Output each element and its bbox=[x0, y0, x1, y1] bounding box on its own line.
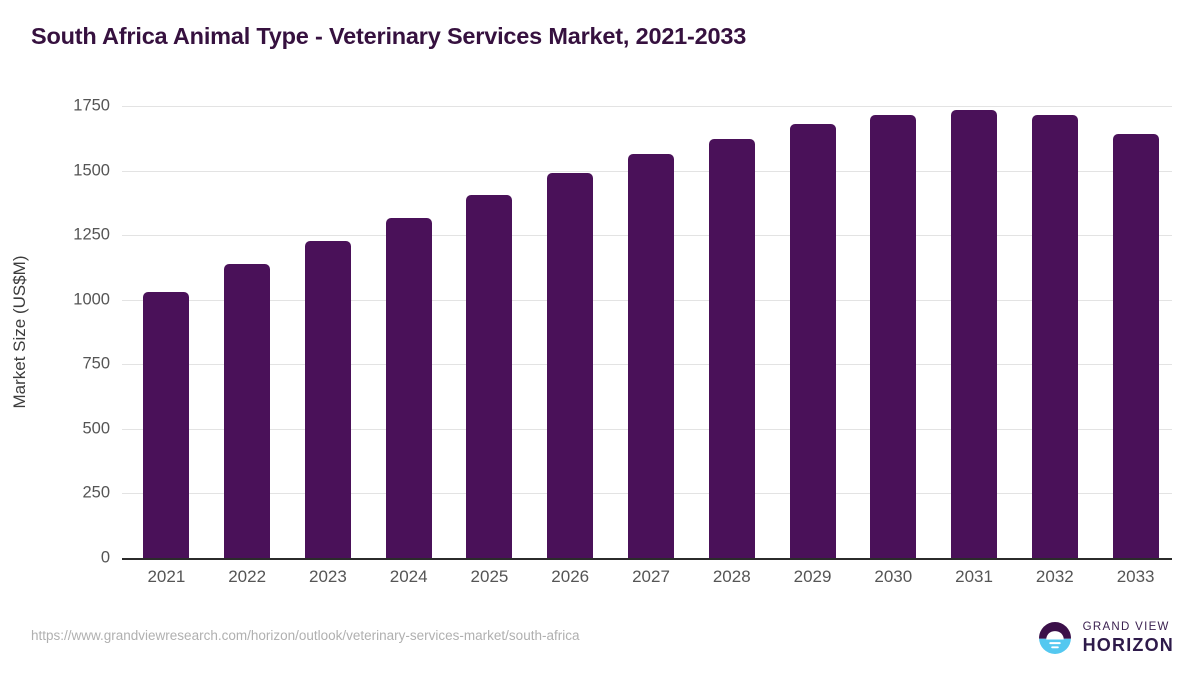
y-axis-title: Market Size (US$M) bbox=[10, 255, 30, 408]
x-axis-tick-label: 2032 bbox=[1036, 567, 1074, 587]
y-axis-tick-label: 1750 bbox=[20, 97, 110, 116]
bar-2023[interactable] bbox=[305, 241, 351, 558]
y-axis-tick-label: 0 bbox=[20, 549, 110, 568]
x-axis-tick-label: 2022 bbox=[228, 567, 266, 587]
chart-canvas: Market Size (US$M) 025050075010001250150… bbox=[0, 0, 1200, 675]
x-axis-tick-label: 2024 bbox=[390, 567, 428, 587]
bar-2031[interactable] bbox=[951, 110, 997, 558]
x-axis-tick-label: 2023 bbox=[309, 567, 347, 587]
logo-line-2: HORIZON bbox=[1083, 636, 1174, 654]
brand-logo: GRAND VIEW HORIZON bbox=[1036, 619, 1174, 657]
bar-2032[interactable] bbox=[1032, 115, 1078, 558]
logo-wordmark: GRAND VIEW HORIZON bbox=[1083, 622, 1174, 655]
source-url[interactable]: https://www.grandviewresearch.com/horizo… bbox=[31, 628, 579, 643]
x-axis-tick-label: 2030 bbox=[874, 567, 912, 587]
x-axis-tick-label: 2029 bbox=[794, 567, 832, 587]
bar-2033[interactable] bbox=[1113, 134, 1159, 558]
y-axis-tick-label: 750 bbox=[20, 355, 110, 374]
gridline bbox=[122, 106, 1172, 107]
x-axis-tick-label: 2025 bbox=[471, 567, 509, 587]
logo-line-1: GRAND VIEW bbox=[1083, 622, 1174, 634]
y-axis-tick-label: 1250 bbox=[20, 226, 110, 245]
bar-2026[interactable] bbox=[547, 173, 593, 558]
y-axis-tick-label: 1000 bbox=[20, 290, 110, 309]
horizon-logo-icon bbox=[1036, 619, 1074, 657]
chart-page: South Africa Animal Type - Veterinary Se… bbox=[0, 0, 1200, 675]
y-axis-tick-label: 250 bbox=[20, 484, 110, 503]
bar-2024[interactable] bbox=[386, 218, 432, 558]
bar-2022[interactable] bbox=[224, 264, 270, 558]
bar-2029[interactable] bbox=[790, 124, 836, 558]
bar-2028[interactable] bbox=[709, 139, 755, 558]
y-axis-tick-label: 500 bbox=[20, 419, 110, 438]
x-axis-tick-label: 2027 bbox=[632, 567, 670, 587]
bar-2030[interactable] bbox=[870, 115, 916, 558]
plot-area bbox=[122, 106, 1172, 558]
x-axis-line bbox=[122, 558, 1172, 560]
x-axis-tick-label: 2033 bbox=[1117, 567, 1155, 587]
x-axis-tick-label: 2031 bbox=[955, 567, 993, 587]
x-axis-tick-label: 2026 bbox=[551, 567, 589, 587]
x-axis-tick-label: 2028 bbox=[713, 567, 751, 587]
x-axis-tick-label: 2021 bbox=[147, 567, 185, 587]
bar-2027[interactable] bbox=[628, 154, 674, 558]
bar-2021[interactable] bbox=[143, 292, 189, 558]
bar-2025[interactable] bbox=[466, 195, 512, 558]
y-axis-tick-label: 1500 bbox=[20, 161, 110, 180]
